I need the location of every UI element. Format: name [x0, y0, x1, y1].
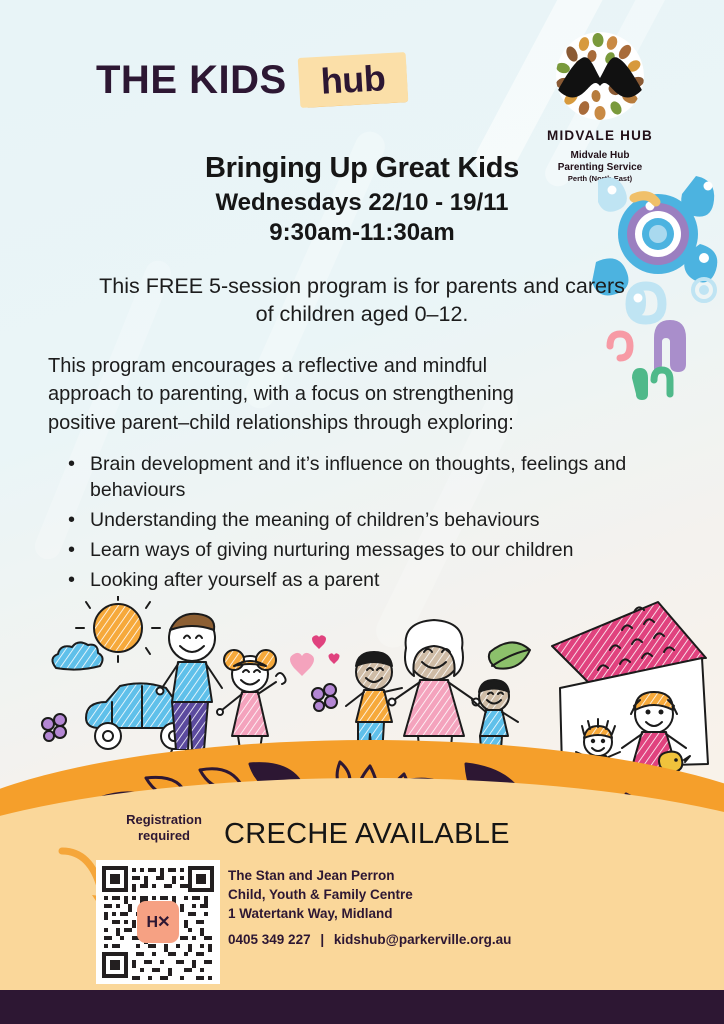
qr-center-logo: H✕ [137, 901, 179, 943]
lead-line-2: of children aged 0–12. [40, 300, 684, 328]
venue-line-3: 1 Watertank Way, Midland [228, 904, 628, 923]
contact-phone[interactable]: 0405 349 227 [228, 932, 311, 947]
contact-email[interactable]: kidshub@parkerville.org.au [334, 932, 511, 947]
hub-badge-text: hub [319, 57, 386, 103]
list-item: Understanding the meaning of children’s … [66, 508, 696, 534]
registration-qr-code[interactable]: H✕ [96, 860, 220, 984]
contact-details: 0405 349 227 | kidshub@parkerville.org.a… [228, 932, 648, 947]
topics-list: Brain development and it’s influence on … [66, 452, 696, 598]
contact-separator: | [314, 932, 330, 947]
program-times: 9:30am-11:30am [0, 219, 724, 247]
midvale-hub-name: MIDVALE HUB [520, 128, 680, 143]
title-block: Bringing Up Great Kids Wednesdays 22/10 … [0, 152, 724, 247]
list-item: Looking after yourself as a parent [66, 568, 696, 594]
registration-line-1: Registration [104, 812, 224, 828]
hub-badge-front-layer: hub [297, 52, 408, 108]
footer-bar [0, 990, 724, 1024]
program-title: Bringing Up Great Kids [0, 152, 724, 185]
venue-address: The Stan and Jean Perron Child, Youth & … [228, 866, 628, 923]
midvale-hands-circle-icon [552, 28, 648, 124]
description-line-2: approach to parenting, with a focus on s… [48, 380, 684, 408]
creche-available-heading: CRECHE AVAILABLE [224, 818, 510, 851]
poster-canvas: THE KIDS hub [0, 0, 724, 1024]
the-kids-text: THE KIDS [96, 58, 287, 103]
venue-line-1: The Stan and Jean Perron [228, 866, 628, 885]
leaf-drawing [489, 642, 530, 668]
flower-drawing [42, 714, 66, 741]
program-dates: Wednesdays 22/10 - 19/11 [0, 189, 724, 217]
registration-required-label: Registration required [104, 812, 224, 844]
description-line-3: positive parent–child relationships thro… [48, 409, 684, 437]
hub-badge: hub [299, 55, 407, 105]
registration-line-2: required [104, 828, 224, 844]
midvale-logo-svg [552, 28, 648, 124]
list-item: Brain development and it’s influence on … [66, 452, 696, 504]
flower-drawing [312, 684, 337, 711]
lead-line-1: This FREE 5-session program is for paren… [40, 272, 684, 300]
cloud-drawing [52, 642, 102, 669]
the-kids-hub-logo: THE KIDS hub [96, 55, 407, 105]
venue-line-2: Child, Youth & Family Centre [228, 885, 628, 904]
list-item: Learn ways of giving nurturing messages … [66, 538, 696, 564]
hearts-drawing [290, 635, 340, 676]
lead-paragraph: This FREE 5-session program is for paren… [40, 272, 684, 329]
description-line-1: This program encourages a reflective and… [48, 352, 684, 380]
description-paragraph: This program encourages a reflective and… [48, 352, 684, 437]
